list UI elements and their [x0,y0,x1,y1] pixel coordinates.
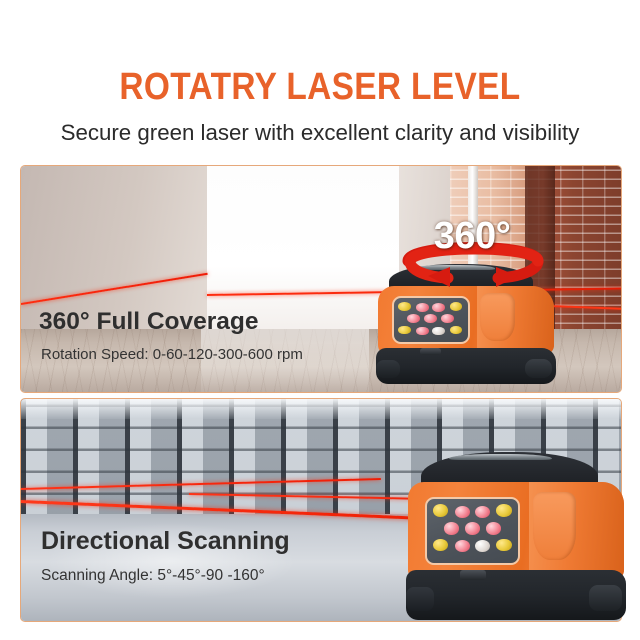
keypad-button [407,314,419,323]
keypad-button [433,504,448,517]
page-title: ROTATRY LASER LEVEL [38,66,601,109]
scanning-heading: Directional Scanning [41,527,290,556]
device-latch [460,570,486,580]
keypad-button [455,540,470,553]
keypad-button [398,326,410,335]
keypad-button [450,302,462,311]
keypad-button [475,540,490,553]
keypad-button [424,314,436,323]
device-foot-right [525,359,552,378]
badge-360-text: 360° [402,215,542,258]
device-latch [420,348,441,355]
keypad-button [416,327,428,336]
device-base [406,570,626,620]
coverage-subtext: Rotation Speed: 0-60-120-300-600 rpm [41,346,303,363]
badge-360: 360° [402,215,542,277]
device-foot-left [376,360,399,377]
keypad-button [465,522,480,535]
device-keypad [425,497,520,564]
keypad-button [496,539,511,552]
keypad-button [398,302,410,311]
rotary-laser-device-2 [408,452,624,620]
device-laser-window [449,454,552,461]
keypad-button [444,522,459,535]
keypad-button [441,314,453,323]
keypad-button [450,326,462,335]
device-handle [480,293,515,341]
keypad-button [486,522,501,535]
device-foot-left [406,587,435,611]
header: ROTATRY LASER LEVEL Secure green laser w… [0,0,640,160]
warehouse-ceiling-light [21,399,621,419]
scanning-subtext: Scanning Angle: 5°-45°-90 -160° [41,567,265,585]
device-base [376,348,556,384]
device-handle [533,492,576,559]
device-keypad [392,296,469,344]
device-foot-right [589,585,622,611]
keypad-button [433,539,448,552]
page-subtitle: Secure green laser with excellent clarit… [3,120,637,146]
coverage-heading: 360° Full Coverage [39,308,259,336]
keypad-button [475,506,490,519]
keypad-button [496,504,511,517]
keypad-button [432,303,444,312]
keypad-button [432,327,444,336]
keypad-button [455,506,470,519]
keypad-button [416,303,428,312]
